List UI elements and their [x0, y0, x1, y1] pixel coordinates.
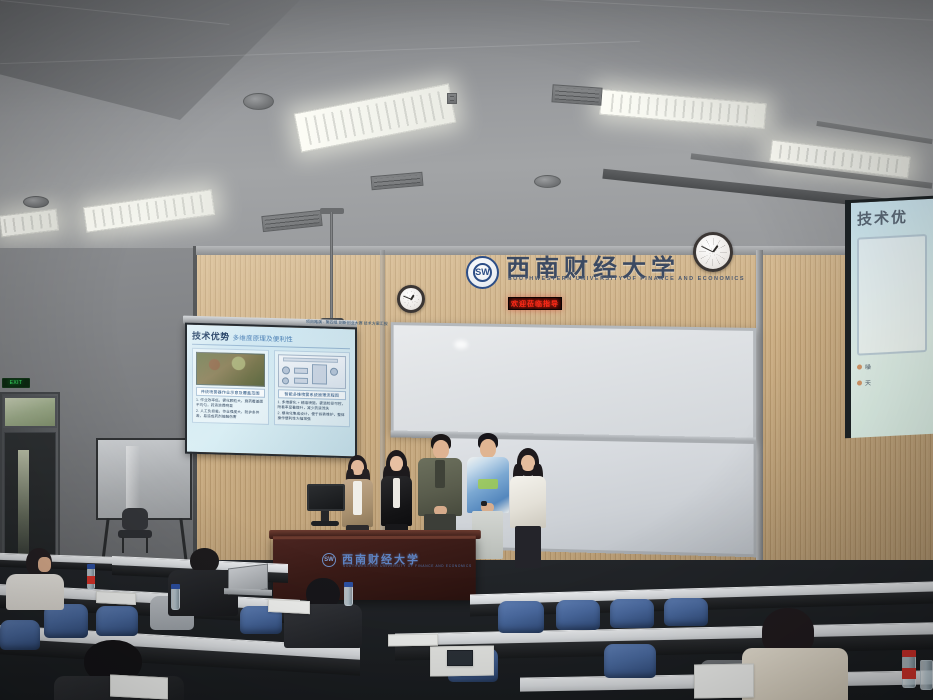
secondary-bullet-text: 噪: [865, 362, 871, 371]
water-bottle[interactable]: [171, 588, 180, 610]
diagram-node-box: [294, 368, 308, 374]
bottle-cap: [344, 582, 353, 587]
bottle-cap: [87, 564, 95, 569]
monitor-base: [311, 521, 339, 526]
ceiling-light-panel: [294, 83, 457, 152]
slide-bullet: 1. 作业效率低，雾化颗粒大，施药覆盖面不均匀，药液浪费明显: [196, 398, 265, 410]
bottle-cap: [902, 650, 916, 657]
diagram-gear-icon: [282, 377, 289, 384]
chair-leg: [146, 537, 148, 553]
podium-emblem-icon: SW: [322, 553, 336, 567]
slide-diagram-image: [278, 354, 347, 389]
wall-column-divider: [756, 250, 763, 580]
slide-caption-left: 传统喷雾器作业示意及覆盖范围: [196, 387, 265, 398]
ceiling: [0, 0, 933, 262]
led-scrolling-sign: 欢迎莅临指导: [508, 297, 562, 310]
head: [433, 440, 449, 459]
ceiling-air-vent: [370, 172, 423, 190]
presenter-5: [508, 448, 548, 566]
torso-cream-sweater: [742, 648, 848, 700]
ceiling-speaker: [23, 196, 49, 208]
audience-1: [6, 548, 68, 610]
torso: [6, 574, 64, 610]
ceiling-light-panel: [599, 89, 767, 129]
bullet-dot-icon: [857, 380, 862, 385]
wall-clock-right: [693, 232, 733, 272]
water-bottle[interactable]: [344, 586, 353, 606]
audience-chair[interactable]: [664, 598, 708, 626]
slide-column-left: 传统喷雾器作业示意及覆盖范围 1. 作业效率低，雾化颗粒大，施药覆盖面不均匀，药…: [192, 348, 269, 425]
slide-title-main: 技术优势: [192, 329, 230, 343]
ceiling-air-vent: [261, 210, 322, 232]
wristwatch-icon: [481, 501, 487, 506]
audience-chair[interactable]: [556, 600, 600, 630]
ceiling-speaker: [243, 93, 274, 110]
ceiling-light-panel: [83, 189, 215, 233]
projector-drop-pole: [330, 212, 333, 324]
ceiling-vent-small: [447, 93, 457, 104]
slide-columns: 传统喷雾器作业示意及覆盖范围 1. 作业效率低，雾化颗粒大，施药覆盖面不均匀，药…: [192, 348, 350, 427]
exit-sign-label: EXIT: [10, 380, 23, 386]
legs: [515, 526, 541, 568]
document-image-block: [447, 650, 473, 666]
secondary-screen-title: 技术优: [857, 205, 927, 230]
secondary-screen-bullet: 噪: [857, 359, 927, 372]
exit-sign: EXIT: [2, 378, 30, 388]
audience-chair[interactable]: [610, 599, 654, 628]
slide-bullets-right: 1. 多维雾化 + 精准喷施，雾滴粒径可控，附着率显著提升，减少药液流失 2. …: [278, 400, 347, 423]
slide-title-bar: 技术优势 多维度原理及便利性: [192, 329, 350, 349]
secondary-screen-card: [857, 234, 927, 356]
podium-monitor[interactable]: [307, 484, 345, 511]
document-sheet[interactable]: [694, 663, 754, 698]
wall-clock-left: [397, 285, 425, 313]
side-chair[interactable]: [118, 508, 152, 552]
slide-bullet: 2. 模块化集成设计，便于拆装维护，整体操作便利性大幅增强: [278, 411, 347, 423]
diagram-header-bar: [283, 357, 338, 363]
diagram-node-box: [312, 364, 327, 384]
secondary-bullet-text: 天: [865, 378, 871, 387]
secondary-screen-bullet: 天: [857, 375, 927, 388]
audience-chair[interactable]: [498, 601, 544, 633]
audience-6: [742, 608, 852, 700]
slide-bullet: 2. 人工负担重，作业强度大，防护条件差，易造成药剂接触伤害: [196, 409, 265, 421]
bottle-cap: [171, 584, 180, 589]
slide-title-sub: 多维度原理及便利性: [233, 332, 293, 344]
led-sign-text: 欢迎莅临指导: [511, 299, 559, 309]
emblem-inner-glyph: SW: [473, 263, 492, 282]
face: [38, 557, 51, 572]
projection-screen: 技术优势 多维度原理及便利性 传统喷雾器作业示意及覆盖范围 1. 作业效率低，雾…: [185, 323, 357, 459]
university-name-en: SOUTHWESTERN UNIVERSITY OF FINANCE AND E…: [508, 276, 745, 282]
ceiling-light-panel: [0, 209, 59, 238]
paper-sheet[interactable]: [388, 634, 438, 647]
whiteboard-glare: [454, 340, 468, 349]
ceiling-seam: [480, 0, 933, 21]
audience-chair[interactable]: [0, 620, 40, 650]
slide-caption-left-text: 传统喷雾器作业示意及覆盖范围: [201, 389, 260, 397]
door-transom-glass: [3, 396, 57, 428]
lecture-hall-photo: EXIT SW 西南财经大学 SOUTHWESTERN UNIVERSITY O…: [0, 0, 933, 700]
polo-logo: [478, 479, 498, 489]
slide-photo-image: [196, 352, 265, 387]
university-emblem-icon: SW: [466, 256, 499, 289]
inner-shirt: [393, 478, 400, 508]
bottle-label: [87, 576, 95, 584]
ceiling-air-vent: [551, 84, 602, 105]
torso-white-shirt: [510, 476, 546, 528]
slide-caption-right-text: 智能多维喷雾系统原理流程图: [284, 391, 339, 399]
ceiling-speaker: [534, 175, 561, 188]
inner-shirt: [353, 481, 362, 515]
door-glass-strip: [18, 450, 29, 560]
podium-name-en: SOUTHWESTERN UNIVERSITY OF FINANCE AND E…: [343, 564, 472, 568]
diagram-gear-icon: [282, 366, 290, 374]
bottle-label: [902, 668, 916, 679]
paper-sheet[interactable]: [96, 591, 136, 605]
secondary-projection-screen: 技术优 噪 天: [845, 196, 933, 439]
diagram-gear-icon: [330, 368, 338, 376]
slide-bullet: 1. 多维雾化 + 精准喷施，雾滴粒径可控，附着率显著提升，减少药液流失: [278, 400, 347, 412]
head: [480, 439, 496, 458]
audience-chair[interactable]: [96, 606, 138, 636]
audience-chair[interactable]: [604, 644, 656, 678]
slide-bullets-left: 1. 作业效率低，雾化颗粒大，施药覆盖面不均匀，药液浪费明显 2. 人工负担重，…: [196, 398, 265, 421]
chair-back: [122, 508, 148, 530]
paper-sheet[interactable]: [110, 674, 168, 699]
jacket-collar: [435, 460, 445, 488]
water-bottle[interactable]: [920, 660, 933, 690]
ceiling-beam: [816, 121, 932, 144]
whiteboard-main: [391, 322, 756, 442]
slide-caption-right: 智能多维喷雾系统原理流程图: [278, 389, 347, 400]
diagram-node-box: [294, 378, 308, 384]
bullet-dot-icon: [857, 364, 862, 369]
chair-leg: [122, 537, 124, 553]
paper-sheet[interactable]: [268, 599, 310, 614]
slide-column-right: 智能多维喷雾系统原理流程图 1. 多维雾化 + 精准喷施，雾滴粒径可控，附着率显…: [274, 350, 351, 427]
